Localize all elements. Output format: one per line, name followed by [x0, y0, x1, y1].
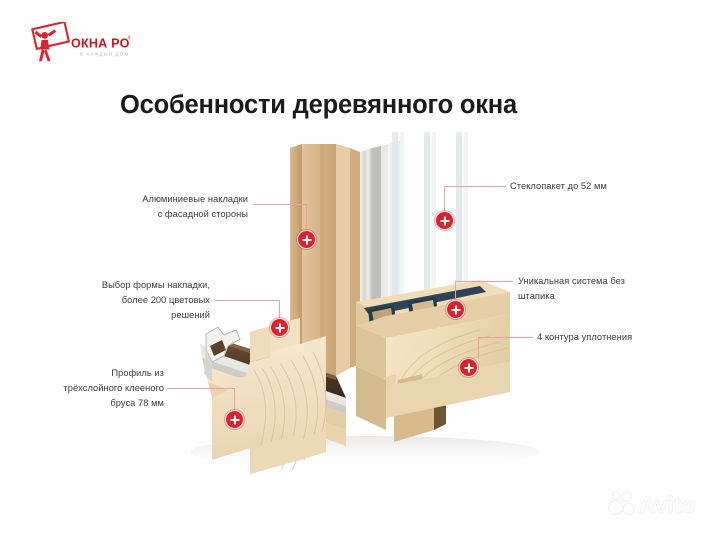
- brand-wordmark: ОКНА РОСТА ® В КАЖДЫЙ ДОМ: [71, 35, 130, 57]
- leader-line-four-seal-contours-h: [478, 337, 533, 338]
- leader-line-three-layer-profile-h: [168, 388, 234, 389]
- callout-label-three-layer-profile: Профиль из трёхслойного клееного бруса 7…: [44, 366, 164, 411]
- callout-label-glass-unit: Стеклопакет до 52 мм: [510, 179, 670, 194]
- callout-line: штапика: [518, 289, 678, 304]
- page-title: Особенности деревянного окна: [120, 91, 620, 120]
- callout-line: Выбор формы накладки,: [84, 278, 210, 293]
- leader-line-no-bead-system-h: [455, 281, 513, 282]
- svg-text:В КАЖДЫЙ ДОМ: В КАЖДЫЙ ДОМ: [80, 52, 129, 57]
- callout-label-cladding-shapes: Выбор формы накладки, более 200 цветовых…: [84, 278, 210, 323]
- brand-logo[interactable]: ОКНА РОСТА ® В КАЖДЫЙ ДОМ: [20, 22, 130, 66]
- callout-line: Уникальная система без: [518, 274, 678, 289]
- leader-line-four-seal-contours-v: [478, 337, 479, 359]
- callout-line: Профиль из: [44, 366, 164, 381]
- callout-line: более 200 цветовых: [84, 293, 210, 308]
- hotspot-plus-three-layer-profile[interactable]: [225, 410, 244, 429]
- man-with-banner-icon: [32, 22, 69, 61]
- hotspot-plus-no-bead-system[interactable]: [446, 300, 465, 319]
- leader-line-aluminum-cladding-h: [253, 204, 306, 205]
- leader-line-glass-unit-v: [444, 186, 445, 212]
- leader-line-glass-unit-h: [444, 186, 506, 187]
- hotspot-plus-cladding-shapes[interactable]: [270, 318, 289, 337]
- leader-line-three-layer-profile-v: [234, 388, 235, 411]
- callout-line: Алюминиевые накладки: [96, 192, 248, 207]
- callout-label-no-bead-system: Уникальная система без штапика: [518, 274, 678, 304]
- callout-line: бруса 78 мм: [44, 396, 164, 411]
- callout-label-aluminum-cladding: Алюминиевые накладки с фасадной стороны: [96, 192, 248, 222]
- callout-line: трёхслойного клееного: [44, 381, 164, 396]
- slide-canvas: ОКНА РОСТА ® В КАЖДЫЙ ДОМ Особенности де…: [0, 0, 720, 540]
- avito-wordmark: Avito: [639, 492, 696, 518]
- avito-dots-icon: [609, 492, 635, 515]
- hotspot-plus-four-seal-contours[interactable]: [459, 358, 478, 377]
- leader-line-no-bead-system-v: [455, 281, 456, 301]
- leader-line-cladding-shapes-h: [215, 300, 279, 301]
- svg-text:ОКНА РОСТА: ОКНА РОСТА: [71, 37, 130, 51]
- callout-line: с фасадной стороны: [96, 207, 248, 222]
- leader-line-aluminum-cladding-v: [306, 204, 307, 230]
- callout-line: Стеклопакет до 52 мм: [510, 179, 670, 194]
- hotspot-plus-glass-unit[interactable]: [435, 211, 454, 230]
- callout-label-four-seal-contours: 4 контура уплотнения: [537, 330, 697, 345]
- callout-line: решений: [84, 308, 210, 323]
- hotspot-plus-aluminum-cladding[interactable]: [297, 230, 316, 249]
- svg-text:®: ®: [128, 35, 130, 42]
- leader-line-cladding-shapes-v: [279, 300, 280, 319]
- avito-watermark: Avito: [606, 488, 702, 518]
- callout-line: 4 контура уплотнения: [537, 330, 697, 345]
